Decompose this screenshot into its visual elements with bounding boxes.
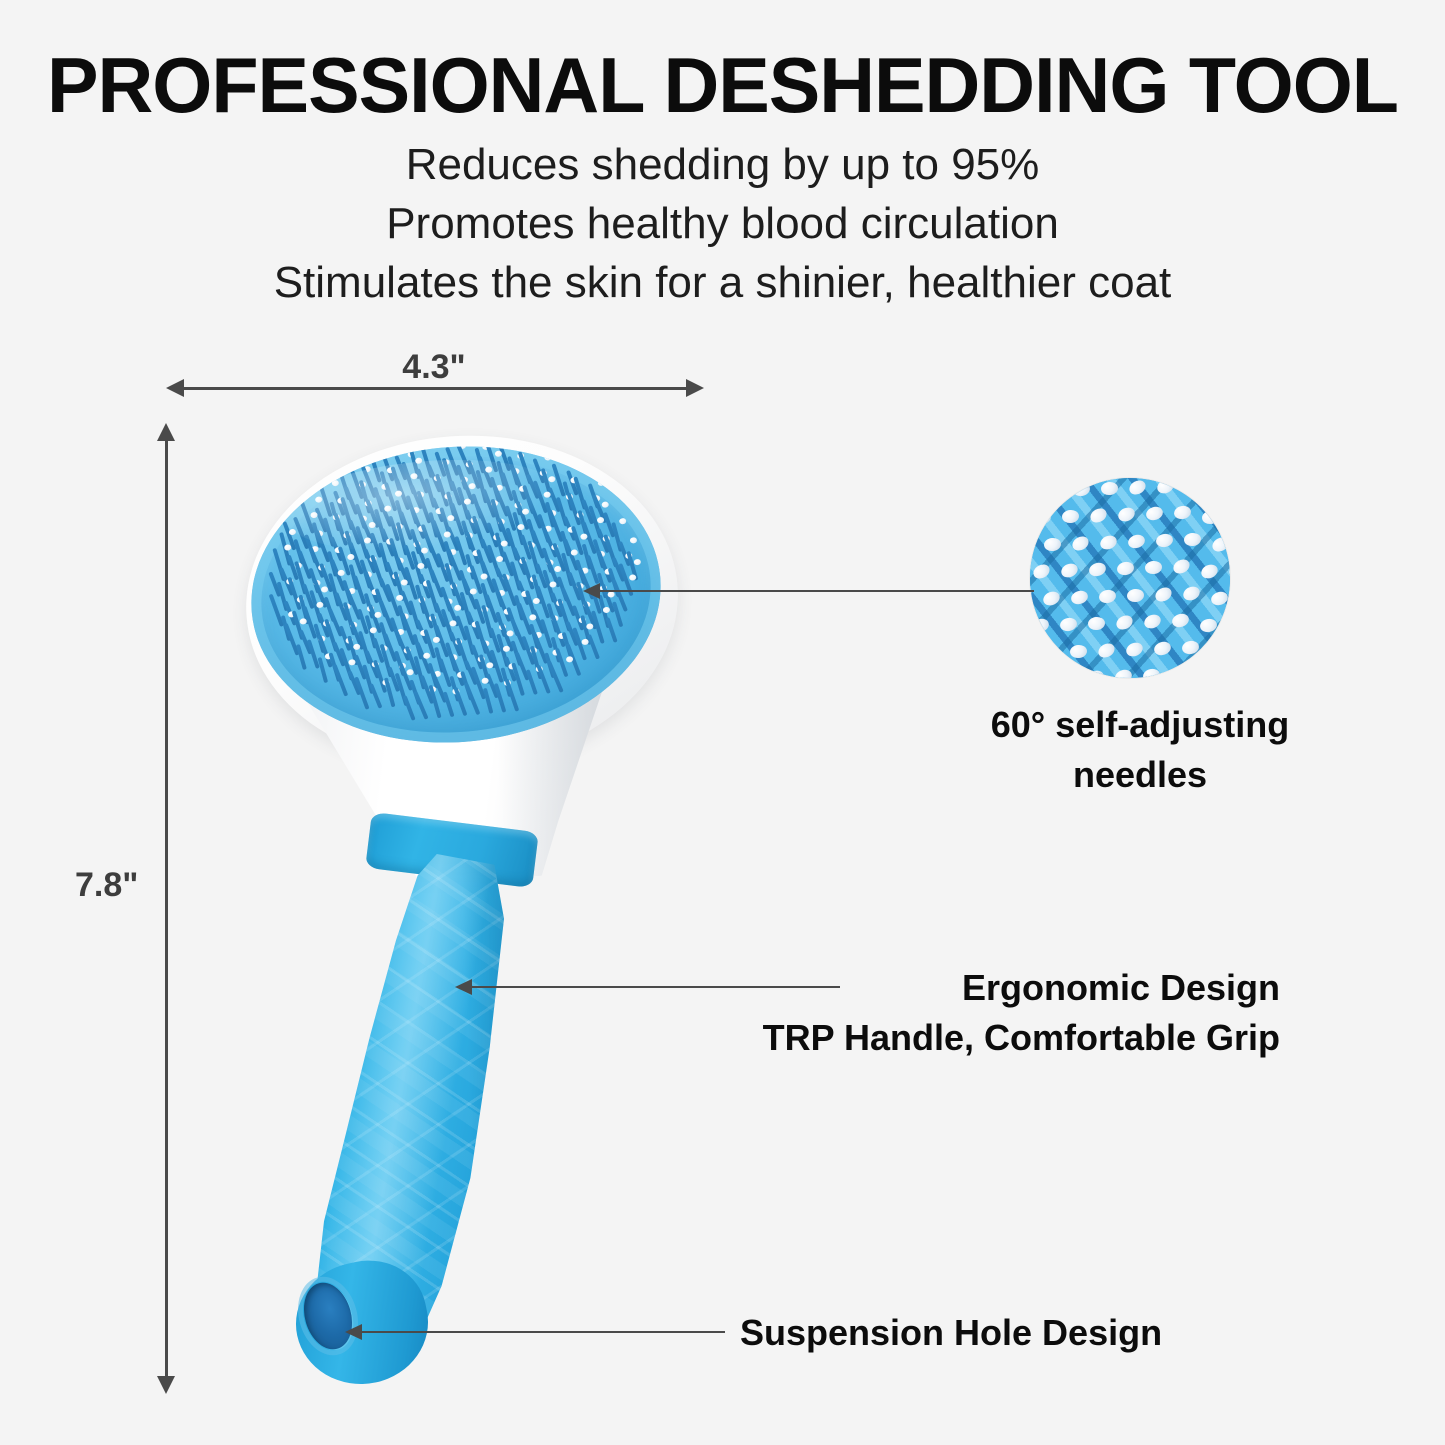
needle-tip — [565, 656, 572, 663]
needle-tip — [564, 459, 571, 466]
closeup-needle-tip — [1116, 560, 1135, 576]
needle-tip — [529, 614, 536, 621]
closeup-needle-tip — [1087, 561, 1107, 579]
closeup-needle-tip — [1171, 557, 1192, 577]
closeup-needle-tip — [1041, 589, 1062, 608]
closeup-needle-tip — [1170, 667, 1188, 678]
needle-tip — [603, 606, 610, 613]
needle-tip — [480, 573, 487, 580]
closeup-needle-tip — [1199, 617, 1218, 633]
closeup-needle-tip — [1030, 639, 1033, 657]
needle-tip — [337, 569, 344, 576]
closeup-needle-tip — [1173, 504, 1192, 520]
closeup-needle-tip — [1201, 510, 1219, 525]
closeup-needle-tip — [1041, 644, 1060, 660]
callout-needles-label: 60° self-adjusting needles — [930, 700, 1350, 799]
needle-tip — [370, 627, 377, 634]
needle-tip — [570, 549, 577, 556]
needle-tip — [554, 565, 561, 572]
closeup-needle-tip — [1227, 617, 1230, 632]
needle-tip — [522, 508, 529, 515]
closeup-needle-tip — [1030, 672, 1048, 678]
closeup-needle-tip — [1212, 482, 1230, 498]
closeup-needle-tip — [1210, 535, 1230, 555]
closeup-needle-tip — [1085, 668, 1106, 678]
closeup-needle-tip — [1088, 506, 1109, 526]
closeup-needle-tip — [1061, 509, 1079, 524]
closeup-needle-tip — [1030, 584, 1034, 604]
closeup-needle-tip — [1199, 562, 1220, 581]
needle-closeup-circle — [1030, 478, 1230, 678]
needle-tip — [289, 528, 296, 535]
needle-pin — [369, 453, 382, 483]
needle-tip — [374, 611, 381, 618]
needle-tip — [417, 563, 424, 570]
closeup-needle-tip — [1127, 478, 1148, 497]
closeup-needle-tip — [1116, 505, 1137, 524]
needle-tip — [495, 451, 502, 458]
closeup-needle-tip — [1087, 616, 1105, 631]
closeup-needle-tip — [1059, 561, 1080, 580]
needle-tip — [468, 483, 475, 490]
closeup-needle-tip — [1170, 612, 1190, 630]
closeup-needle-tip — [1155, 478, 1176, 496]
callout-ergonomic-line2: TRP Handle, Comfortable Grip — [740, 1013, 1280, 1063]
needle-tip — [310, 512, 317, 519]
closeup-needle-tip — [1114, 613, 1135, 633]
closeup-needle-tip — [1183, 478, 1203, 494]
closeup-needle-tip — [1144, 505, 1164, 523]
closeup-needle-tip — [1069, 589, 1089, 607]
closeup-needle-tip — [1181, 639, 1200, 655]
closeup-needle-tip — [1057, 669, 1078, 678]
closeup-needle-tip — [1155, 532, 1174, 548]
closeup-needle-tip — [1098, 588, 1117, 604]
closeup-needle-tip — [1030, 617, 1050, 635]
needle-tip — [331, 480, 338, 487]
closeup-needle-tip — [1181, 584, 1202, 603]
callout-ergonomic-line1: Ergonomic Design — [740, 963, 1280, 1013]
needle-tip — [548, 476, 555, 483]
needle-pin — [443, 691, 455, 717]
brush-handle — [250, 810, 580, 1410]
suspension-leader-arrow-icon — [345, 1324, 362, 1340]
needle-tip — [321, 586, 328, 593]
closeup-needle-tip — [1030, 478, 1036, 495]
closeup-needle-tip — [1153, 585, 1174, 605]
closeup-needle-tip — [1228, 507, 1230, 527]
needle-tip — [284, 544, 291, 551]
closeup-needle-tip — [1030, 531, 1034, 547]
needle-tip — [633, 559, 640, 566]
closeup-needle-tip — [1072, 481, 1091, 497]
needle-tip — [406, 669, 413, 676]
needle-tip — [454, 605, 461, 612]
closeup-needle-tip — [1152, 640, 1172, 658]
closeup-needle-tip — [1043, 537, 1061, 552]
needle-pin-field — [239, 430, 673, 760]
closeup-needle-tip — [1142, 612, 1163, 631]
closeup-needle-tip — [1209, 590, 1229, 608]
closeup-needle-tip — [1197, 670, 1218, 678]
needle-tip — [423, 652, 430, 659]
needle-tip — [502, 645, 509, 652]
closeup-needle-tip — [1098, 533, 1119, 552]
closeup-needle-tip — [1124, 640, 1145, 659]
needle-tip — [544, 454, 551, 461]
callout-needles-line2: needles — [930, 750, 1350, 800]
callout-needles-line1: 60° self-adjusting — [930, 700, 1350, 750]
infographic-canvas: PROFESSIONAL DESHEDDING TOOL Reduces she… — [0, 0, 1445, 1445]
closeup-needle-tip — [1096, 641, 1117, 661]
needle-tip — [517, 524, 524, 531]
needles-leader-line — [598, 590, 1034, 592]
needle-tip — [485, 466, 492, 473]
callout-suspension-label: Suspension Hole Design — [740, 1308, 1160, 1358]
needle-tip — [598, 479, 605, 486]
closeup-needle-tip — [1227, 562, 1230, 580]
needle-tip — [368, 522, 375, 529]
needle-pin — [403, 695, 416, 721]
closeup-needle-tip — [1126, 588, 1144, 603]
brush-head-pad — [239, 430, 673, 760]
closeup-needle-tip — [1031, 562, 1052, 582]
needle-tip — [630, 537, 637, 544]
closeup-needle-tip — [1209, 645, 1227, 660]
closeup-needle-tip — [1183, 532, 1201, 547]
closeup-needle-tip — [1033, 509, 1052, 525]
needle-tip — [601, 501, 608, 508]
needle-tip — [619, 518, 626, 525]
callout-ergonomic-label: Ergonomic Design TRP Handle, Comfortable… — [740, 963, 1280, 1062]
needle-tip — [443, 531, 450, 538]
closeup-needle-tip — [1069, 644, 1087, 659]
closeup-needle-tip — [1225, 669, 1230, 678]
closeup-needle-tips — [1030, 478, 1230, 678]
needles-leader-arrow-icon — [583, 583, 600, 599]
needle-pin — [605, 617, 617, 643]
needle-tip — [415, 457, 422, 464]
closeup-needle-tip — [1043, 482, 1063, 500]
needle-closeup-content — [1030, 478, 1230, 678]
needle-tip — [315, 496, 322, 503]
closeup-needle-tip — [1144, 560, 1162, 575]
closeup-needle-tip — [1126, 533, 1146, 551]
closeup-needle-tip — [1070, 534, 1091, 554]
closeup-needle-tip — [1113, 668, 1133, 678]
closeup-needle-tip — [1142, 667, 1161, 678]
ergonomic-leader-arrow-icon — [455, 979, 472, 995]
suspension-leader-line — [360, 1331, 725, 1333]
needle-tip — [394, 490, 401, 497]
closeup-needle-tip — [1059, 616, 1078, 632]
closeup-needle-tip — [1100, 481, 1118, 496]
